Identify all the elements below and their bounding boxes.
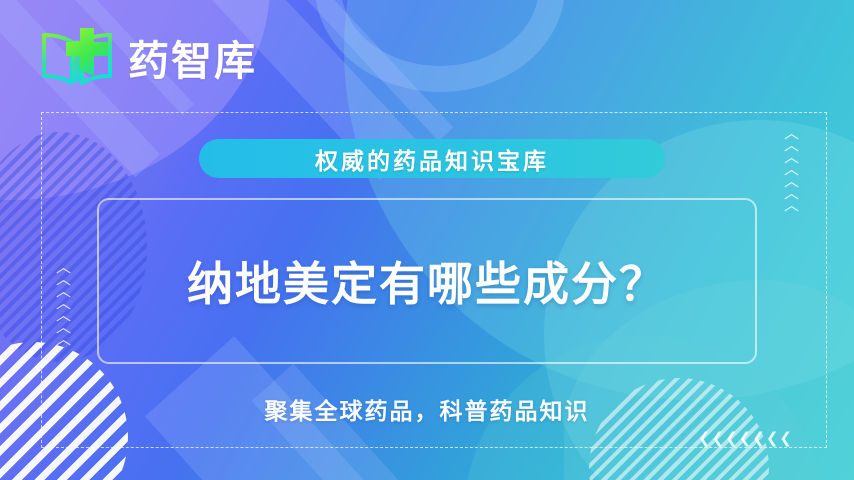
chevron-left-icon: ❮ (779, 431, 792, 446)
open-book-medical-cross-icon (38, 26, 116, 88)
chevron-left-icon: ❮ (712, 431, 725, 446)
authority-badge-label: 权威的药品知识宝库 (315, 142, 549, 176)
chevron-up-column-left: ︿ ︿ ︿ ︿ ︿ ︿ ︿ (56, 262, 71, 345)
chevron-up-icon: ︿ (784, 200, 799, 211)
brand-logo[interactable]: 药智库 (38, 26, 257, 88)
chevron-up-icon: ︿ (56, 334, 71, 345)
brand-name: 药智库 (128, 27, 257, 87)
promo-banner: ︿ ︿ ︿ ︿ ︿ ︿ ︿ ︿ ︿ ︿ ︿ ︿ ︿ ︿ ❮ ❮ ❮ ❮ ❮ ❮ … (0, 0, 854, 480)
chevron-left-icon: ❮ (739, 431, 752, 446)
chevron-up-column-right: ︿ ︿ ︿ ︿ ︿ ︿ ︿ (784, 128, 799, 211)
ring-top-center (315, 0, 565, 92)
chevron-left-icon: ❮ (766, 431, 779, 446)
chevron-left-icon: ❮ (752, 431, 765, 446)
chevron-left-row-bottom-right: ❮ ❮ ❮ ❮ ❮ ❮ ❮ (698, 431, 792, 446)
chevron-left-icon: ❮ (698, 431, 711, 446)
tagline-text: 聚集全球药品，科普药品知识 (0, 392, 854, 426)
headline-title: 纳地美定有哪些成分？ (97, 198, 757, 364)
authority-badge: 权威的药品知识宝库 (199, 139, 665, 178)
chevron-left-icon: ❮ (725, 431, 738, 446)
